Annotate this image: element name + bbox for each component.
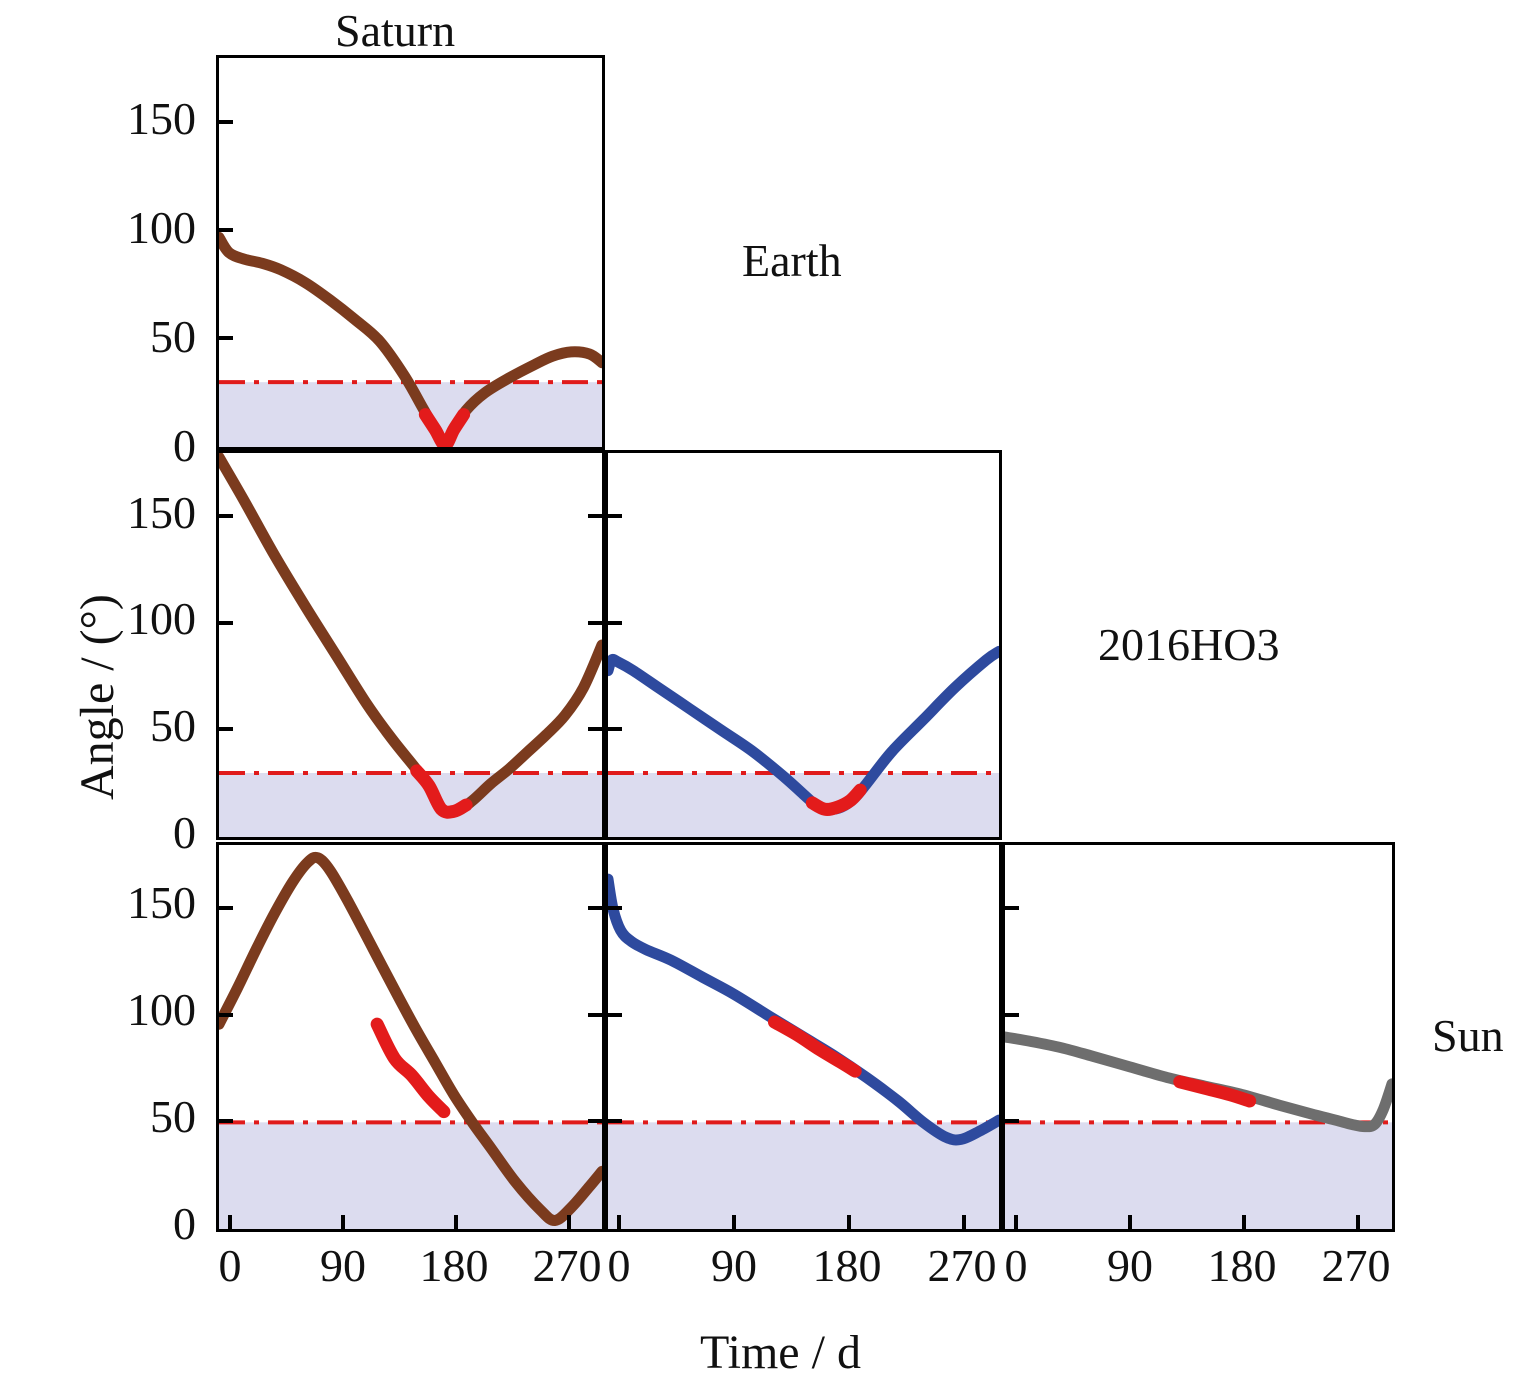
y-tick-r3-right-50 [588, 1119, 605, 1123]
x-tick-c3-270 [1356, 1215, 1360, 1232]
x-tick-c2-270 [962, 1215, 966, 1232]
y-tick-label-r2-0: 0 [96, 810, 196, 856]
x-tick-c3-90 [1128, 1215, 1132, 1232]
y-tick-r3-50 [216, 1119, 233, 1123]
y-tick-r3c2-50 [605, 1119, 622, 1123]
y-tick-r2-100 [216, 621, 233, 625]
x-tick-c1-180 [454, 1215, 458, 1232]
x-tick-label-c1-180: 180 [394, 1243, 514, 1289]
highlight-segment [1180, 1082, 1250, 1101]
panel-saturn-vs-sun [216, 842, 605, 1232]
x-tick-c2-180 [847, 1215, 851, 1232]
y-tick-label-r3-50: 50 [96, 1094, 196, 1140]
x-tick-c1-0 [228, 1215, 232, 1232]
plot-earth-vs-sun [608, 845, 999, 1229]
y-tick-r2-right-100 [588, 621, 605, 625]
y-tick-label-r1-0: 0 [96, 423, 196, 469]
x-tick-label-c2-180: 180 [787, 1243, 907, 1289]
x-tick-c2-90 [732, 1215, 736, 1232]
x-axis-title: Time / d [700, 1325, 861, 1380]
panel-earth-vs-2016ho3 [605, 450, 1002, 840]
plot-earth-vs-2016ho3 [608, 453, 999, 837]
panel-saturn-vs-2016ho3 [216, 450, 605, 840]
plot-saturn-vs-sun [219, 845, 602, 1229]
y-tick-r2-150 [216, 514, 233, 518]
y-tick-r1-100 [216, 228, 233, 232]
x-tick-c3-180 [1242, 1215, 1246, 1232]
y-tick-r3-150 [216, 906, 233, 910]
highlight-segment [774, 1022, 855, 1071]
y-tick-r3c2-100 [605, 1013, 622, 1017]
figure-root: Angle / (°) Time / d Saturn Earth 2016HO… [0, 0, 1535, 1395]
y-tick-r3-100 [216, 1013, 233, 1017]
x-tick-c1-270 [567, 1215, 571, 1232]
plot-saturn-vs-2016ho3 [219, 453, 602, 837]
panel-2016ho3-vs-sun [1002, 842, 1395, 1232]
y-tick-r2-50 [216, 727, 233, 731]
panel-title-2016ho3: 2016HO3 [1098, 622, 1279, 668]
y-tick-r3-right-150 [588, 906, 605, 910]
panel-title-sun: Sun [1432, 1013, 1504, 1059]
x-tick-c2-0 [617, 1215, 621, 1232]
plot-saturn-vs-earth [219, 58, 602, 447]
y-tick-label-r3-100: 100 [96, 987, 196, 1033]
y-tick-label-r1-150: 150 [96, 96, 196, 142]
y-tick-r3c3-100 [1002, 1013, 1019, 1017]
y-tick-r3c3-150 [1002, 906, 1019, 910]
x-tick-c1-90 [341, 1215, 345, 1232]
y-tick-r2c2-50 [605, 727, 622, 731]
y-tick-label-r3-150: 150 [96, 880, 196, 926]
y-tick-r2-right-150 [588, 514, 605, 518]
y-tick-label-r2-50: 50 [96, 703, 196, 749]
x-tick-label-c3-270: 270 [1296, 1243, 1416, 1289]
y-tick-label-r1-100: 100 [96, 205, 196, 251]
x-tick-label-c2-0: 0 [569, 1243, 669, 1289]
x-tick-label-c3-180: 180 [1182, 1243, 1302, 1289]
panel-saturn-vs-earth [216, 55, 605, 450]
y-tick-r3-right-100 [588, 1013, 605, 1017]
y-tick-label-r1-50: 50 [96, 314, 196, 360]
y-tick-r2c2-100 [605, 621, 622, 625]
y-tick-r1-150 [216, 120, 233, 124]
x-tick-label-c3-0: 0 [966, 1243, 1066, 1289]
x-tick-label-c3-90: 90 [1080, 1243, 1180, 1289]
x-tick-c3-0 [1014, 1215, 1018, 1232]
x-tick-label-c1-0: 0 [180, 1243, 280, 1289]
shaded-region [1005, 1122, 1392, 1229]
panel-title-earth: Earth [742, 238, 842, 284]
y-tick-r2c2-150 [605, 514, 622, 518]
shaded-region [608, 773, 999, 837]
shaded-region [219, 773, 602, 837]
y-tick-r3c3-50 [1002, 1119, 1019, 1123]
y-tick-label-r3-0: 0 [96, 1201, 196, 1247]
series-curve-earth [608, 879, 999, 1140]
x-tick-label-c1-90: 90 [293, 1243, 393, 1289]
series-curve-saturn [219, 457, 602, 812]
x-tick-label-c2-90: 90 [684, 1243, 784, 1289]
y-tick-label-r2-100: 100 [96, 596, 196, 642]
panel-earth-vs-sun [605, 842, 1002, 1232]
panel-title-saturn: Saturn [335, 8, 455, 54]
y-tick-r1-50 [216, 336, 233, 340]
y-tick-r2-right-50 [588, 727, 605, 731]
y-tick-label-r2-150: 150 [96, 490, 196, 536]
y-tick-r3c2-150 [605, 906, 622, 910]
plot-2016ho3-vs-sun [1005, 845, 1392, 1229]
